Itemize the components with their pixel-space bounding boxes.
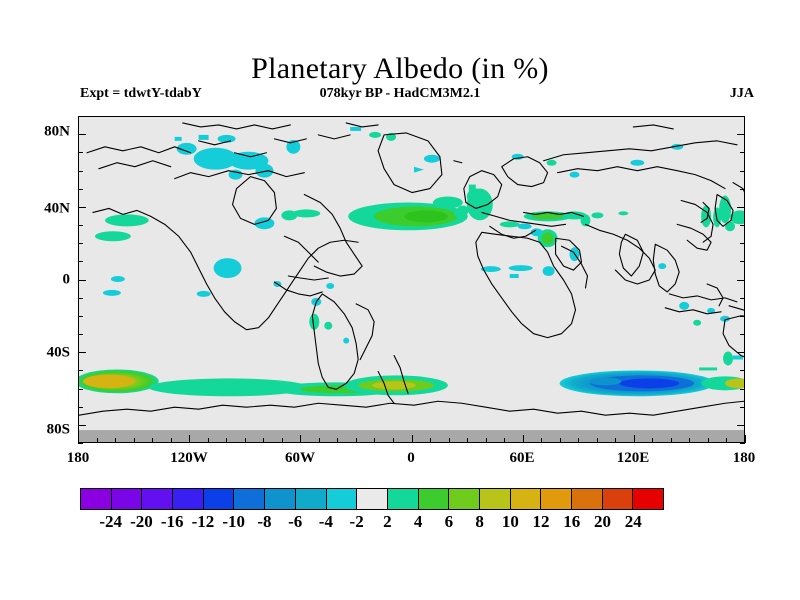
ytick-mark-right [740, 171, 745, 172]
xtick-mark [78, 435, 79, 443]
xtick-mark [245, 438, 246, 443]
ytick-0: 0 [38, 272, 70, 289]
colorbar-tick-13: 10 [502, 512, 519, 532]
colorbar-cell-4 [204, 489, 235, 509]
ytick-mark [78, 225, 83, 226]
colorbar-tick-12: 8 [475, 512, 484, 532]
ytick-mark [78, 280, 86, 281]
ytick-mark-right [740, 189, 745, 190]
xtick-mark [689, 438, 690, 443]
colorbar-cell-0 [81, 489, 112, 509]
xtick-120w: 120W [170, 450, 208, 467]
ytick-mark-right [740, 389, 745, 390]
colorbar-tick-0: -24 [99, 512, 122, 532]
ytick-mark-right [737, 207, 745, 208]
colorbar-cell-10 [388, 489, 419, 509]
xtick-mark [615, 438, 616, 443]
ytick-mark-right [740, 334, 745, 335]
ytick-mark [78, 370, 83, 371]
colorbar-cell-3 [173, 489, 204, 509]
colorbar-ticklabels: -24-20-16-12-10-8-6-4-224681012162024 [80, 512, 664, 534]
xtick-mark [263, 438, 264, 443]
colorbar-cell-7 [296, 489, 327, 509]
ytick-mark-right [740, 298, 745, 299]
colorbar-cell-12 [449, 489, 480, 509]
ytick-mark [78, 207, 86, 208]
xtick-mark [282, 438, 283, 443]
xtick-mark [486, 438, 487, 443]
colorbar-cell-9 [357, 489, 388, 509]
xtick-mark [430, 438, 431, 443]
xtick-mark [189, 435, 190, 443]
ytick-mark [78, 352, 86, 353]
xtick-mark [226, 438, 227, 443]
xtick-mark [745, 435, 746, 443]
ytick-mark-right [737, 280, 745, 281]
xtick-mark [541, 438, 542, 443]
ytick-mark [78, 134, 86, 135]
xtick-mark [523, 435, 524, 443]
xtick-mark [152, 438, 153, 443]
xtick-mark [374, 438, 375, 443]
xtick-mark [115, 438, 116, 443]
colorbar-cell-15 [541, 489, 572, 509]
ytick-mark [78, 116, 83, 117]
xtick-60w: 60W [285, 450, 315, 467]
colorbar-cell-16 [572, 489, 603, 509]
xtick-180w: 180 [67, 450, 90, 467]
xtick-mark [412, 435, 413, 443]
ytick-mark-right [737, 134, 745, 135]
xtick-60e: 60E [509, 450, 534, 467]
ytick-mark-right [740, 370, 745, 371]
colorbar-cell-13 [480, 489, 511, 509]
xtick-mark [356, 438, 357, 443]
experiment-label: Expt = tdwtY-tdabY [80, 86, 202, 102]
ytick-mark [78, 407, 83, 408]
xtick-mark [708, 438, 709, 443]
colorbar-cell-8 [327, 489, 358, 509]
colorbar-cell-17 [603, 489, 634, 509]
colorbar-cell-11 [419, 489, 450, 509]
ytick-mark-right [740, 316, 745, 317]
xtick-mark [634, 435, 635, 443]
ytick-mark [78, 171, 83, 172]
ytick-mark-right [740, 443, 745, 444]
colorbar-cell-18 [633, 489, 663, 509]
ytick-mark-right [740, 261, 745, 262]
colorbar: -24-20-16-12-10-8-6-4-224681012162024 [80, 488, 664, 510]
ytick-mark [78, 316, 83, 317]
xtick-mark [319, 438, 320, 443]
xtick-mark [337, 438, 338, 443]
colorbar-tick-15: 16 [563, 512, 580, 532]
ytick-mark [78, 152, 83, 153]
ytick-mark-right [740, 225, 745, 226]
xtick-mark [652, 438, 653, 443]
ytick-mark [78, 389, 83, 390]
ytick-mark [78, 261, 83, 262]
xtick-mark [578, 438, 579, 443]
ytick-mark-right [737, 352, 745, 353]
ytick-mark-right [740, 407, 745, 408]
xtick-mark [134, 438, 135, 443]
colorbar-tick-11: 6 [445, 512, 454, 532]
colorbar-tick-4: -10 [222, 512, 245, 532]
ytick-mark-right [740, 152, 745, 153]
colorbar-tick-1: -20 [130, 512, 153, 532]
xtick-mark [171, 438, 172, 443]
colorbar-tick-6: -6 [288, 512, 302, 532]
xtick-mark [300, 435, 301, 443]
colorbar-tick-17: 24 [625, 512, 642, 532]
ytick-mark [78, 189, 83, 190]
ytick-mark [78, 243, 83, 244]
ytick-mark [78, 298, 83, 299]
xtick-mark [97, 438, 98, 443]
colorbar-cell-5 [234, 489, 265, 509]
xtick-mark [597, 438, 598, 443]
xtick-mark [504, 438, 505, 443]
ytick-mark-right [740, 243, 745, 244]
xtick-mark [449, 438, 450, 443]
ytick-mark-right [740, 116, 745, 117]
season-label: JJA [730, 86, 754, 102]
colorbar-tick-3: -12 [192, 512, 215, 532]
ytick-80s: 80S [38, 422, 70, 439]
colorbar-tick-16: 20 [594, 512, 611, 532]
ytick-mark [78, 334, 83, 335]
ytick-40s: 40S [38, 345, 70, 362]
ytick-mark [78, 443, 83, 444]
colorbar-cell-14 [511, 489, 542, 509]
ytick-80n: 80N [38, 124, 70, 141]
colorbar-tick-10: 4 [414, 512, 423, 532]
colorbar-tick-9: 2 [383, 512, 392, 532]
ytick-mark [78, 425, 86, 426]
xtick-mark [726, 438, 727, 443]
colorbar-cell-1 [112, 489, 143, 509]
xtick-mark [467, 438, 468, 443]
colorbar-tick-8: -2 [350, 512, 364, 532]
ytick-mark-right [737, 425, 745, 426]
xtick-120e: 120E [617, 450, 650, 467]
xtick-mark [208, 438, 209, 443]
colorbar-tick-14: 12 [533, 512, 550, 532]
page-title: Planetary Albedo (in %) [0, 52, 800, 86]
xtick-mark [671, 438, 672, 443]
colorbar-swatches [80, 488, 664, 510]
xtick-mark [393, 438, 394, 443]
xtick-0: 0 [407, 450, 415, 467]
xtick-180e: 180 [733, 450, 756, 467]
colorbar-cell-6 [265, 489, 296, 509]
colorbar-tick-7: -4 [319, 512, 333, 532]
colorbar-tick-2: -16 [161, 512, 184, 532]
ytick-40n: 40N [38, 201, 70, 218]
colorbar-tick-5: -8 [257, 512, 271, 532]
colorbar-cell-2 [142, 489, 173, 509]
map-plot-panel [78, 116, 745, 443]
world-map-heatmap [79, 117, 744, 442]
xtick-mark [560, 438, 561, 443]
